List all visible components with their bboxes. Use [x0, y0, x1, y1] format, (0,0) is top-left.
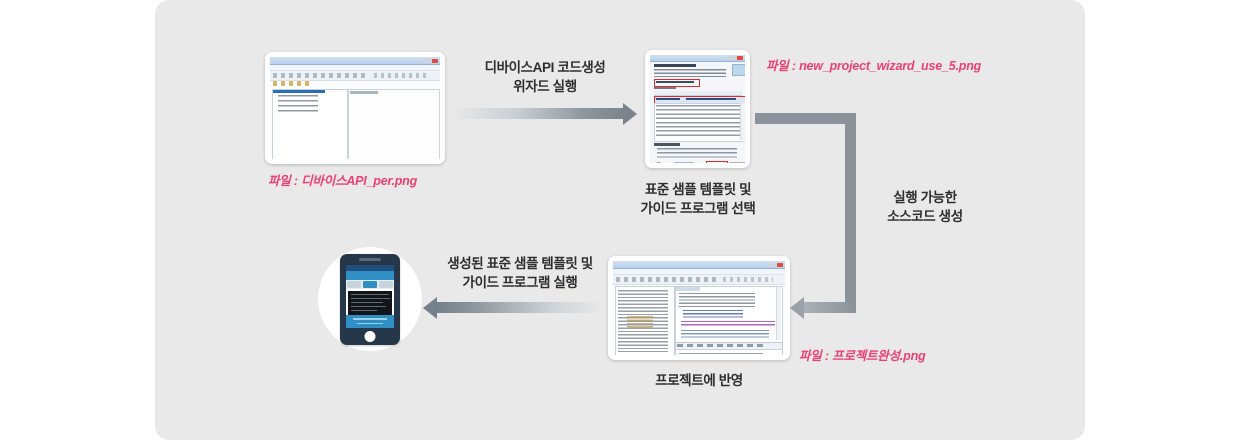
wizard-highlight-field-text: [656, 81, 694, 83]
project-window-titlebar: [613, 261, 785, 269]
app-console-line-3: [351, 302, 383, 304]
arrow-step1-label-line1: 디바이스API 코드생성: [455, 58, 635, 77]
toolbar-icons: [273, 73, 369, 78]
code-editor-lines-a: [679, 293, 755, 307]
arrow-step1-label-line2: 위자드 실행: [455, 77, 635, 96]
caption-wizard-line2: 가이드 프로그램 선택: [608, 199, 788, 218]
arrow-step1: [452, 108, 624, 119]
project-toolbar-icons-2: [723, 277, 773, 282]
wizard-list-scrollbar[interactable]: [740, 103, 745, 140]
wizard-help-icon[interactable]: [655, 162, 662, 163]
wizard-template-list-rows: [656, 105, 740, 138]
wizard-back-button[interactable]: [674, 162, 694, 163]
phone-speaker: [359, 258, 381, 261]
project-ide-content: [613, 261, 785, 355]
screenshot-device-api-ide[interactable]: [265, 52, 445, 164]
arrow-step1-label: 디바이스API 코드생성 위자드 실행: [455, 58, 635, 96]
code-editor-lines-b: [683, 310, 743, 318]
package-explorer-highlight: [627, 316, 653, 328]
project-window-controls: [767, 263, 783, 267]
code-editor-lines-c: [681, 330, 769, 338]
app-tab-2[interactable]: [363, 281, 377, 288]
app-console-line-4: [351, 306, 386, 308]
dialog-header-logo: [732, 64, 745, 76]
app-titlebar: [346, 271, 394, 280]
project-tree-selected: [273, 90, 325, 93]
dialog-header-title: [654, 64, 696, 67]
screenshot-new-project-wizard[interactable]: [645, 50, 750, 168]
wizard-section-options: [657, 148, 737, 158]
arrow-step3-label-line2: 가이드 프로그램 실행: [420, 273, 620, 292]
wizard-cancel-button[interactable]: [729, 162, 745, 163]
arrow-step3: [436, 302, 604, 313]
mobile-app-preview[interactable]: [340, 254, 400, 345]
app-console-line-1: [351, 294, 389, 296]
diagram-canvas: 파일 : 디바이스API_per.png 디바이스API 코드생성 위자드 실행: [0, 0, 1240, 440]
caption-wizard-line1: 표준 샘플 템플릿 및: [608, 180, 788, 199]
editor-toolbar: [350, 91, 378, 94]
toolbar-row2: [273, 81, 313, 86]
wizard-selected-row-text: [656, 98, 736, 100]
toolbar-icons-2: [374, 73, 430, 78]
window-titlebar: [270, 57, 440, 65]
phone-home-button[interactable]: [365, 331, 376, 342]
arrow-step2-label-line2: 소스코드 생성: [855, 207, 995, 226]
project-console-text: [679, 353, 763, 355]
screenshot-project-complete-ide[interactable]: [608, 256, 790, 360]
app-tabbar[interactable]: [346, 280, 394, 289]
file-label-new-project-wizard: 파일 : new_project_wizard_use_5.png: [766, 55, 981, 74]
arrow-step2-label: 실행 가능한 소스코드 생성: [855, 188, 995, 226]
app-console-line-5: [351, 310, 377, 312]
app-footer-line-2: [357, 323, 383, 325]
caption-new-project-wizard: 표준 샘플 템플릿 및 가이드 프로그램 선택: [608, 180, 788, 218]
project-console-tabstrip-labels: [677, 344, 763, 347]
project-toolbar-icons: [616, 277, 716, 282]
editor-panel: [348, 89, 440, 159]
wizard-dialog-content: [650, 55, 745, 163]
ide-window-content: [270, 57, 440, 159]
file-label-project-complete: 파일 : 프로젝트완성.png: [799, 345, 926, 364]
window-controls: [422, 59, 438, 63]
app-tab-3[interactable]: [379, 281, 393, 288]
wizard-template-label: [654, 87, 676, 89]
app-footer: [346, 315, 394, 328]
code-editor-scrollbar[interactable]: [776, 287, 781, 340]
code-editor-tab[interactable]: [676, 287, 700, 291]
arrow-step1-head: [623, 103, 637, 125]
wizard-section-label: [654, 143, 680, 146]
arrow-step2-label-line1: 실행 가능한: [855, 188, 995, 207]
app-console-line-2: [351, 298, 390, 300]
arrow-step3-head: [423, 297, 437, 319]
dialog-titlebar: [650, 55, 745, 62]
app-tab-1[interactable]: [347, 281, 361, 288]
app-footer-line-1: [353, 318, 387, 320]
caption-project-complete: 프로젝트에 반영: [609, 371, 789, 390]
code-editor-lines-highlight: [681, 321, 775, 327]
dialog-window-controls: [727, 56, 743, 60]
project-tree-items: [278, 95, 318, 113]
file-label-device-api: 파일 : 디바이스API_per.png: [268, 170, 417, 189]
dialog-header-desc: [654, 69, 726, 77]
phone-screen: [346, 265, 394, 328]
arrow-step3-label: 생성된 표준 샘플 템플릿 및 가이드 프로그램 실행: [420, 254, 620, 292]
arrow-step3-label-line1: 생성된 표준 샘플 템플릿 및: [420, 254, 620, 273]
